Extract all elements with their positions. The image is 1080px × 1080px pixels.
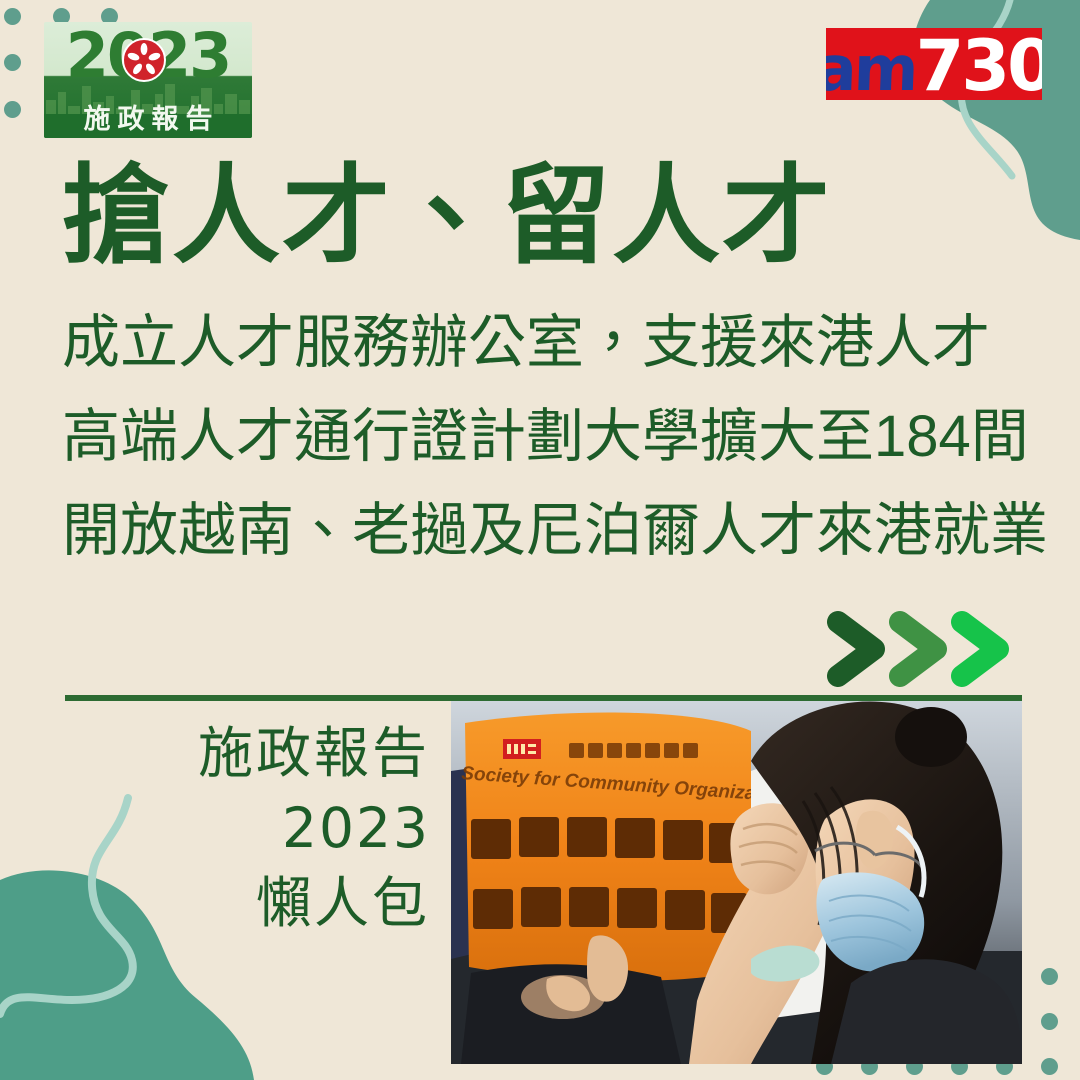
chevron-right-icon: [838, 622, 874, 676]
am730-prefix: am: [826, 40, 917, 98]
caption-line-2: 2023: [100, 791, 430, 866]
bullet-item: 成立人才服務辦公室，支援來港人才: [62, 296, 1047, 390]
decorative-dot: [4, 54, 21, 71]
decorative-dot: [4, 8, 21, 25]
chevron-right-icon: [962, 622, 998, 676]
carer-photo: Society for Community Organization (SoCO…: [451, 701, 1022, 1064]
bullet-item: 高端人才通行證計劃大學擴大至184間: [62, 390, 1047, 484]
banner-org-chinese: [569, 743, 698, 758]
decorative-dot: [1041, 1058, 1058, 1075]
series-caption: 施政報告 2023 懶人包: [100, 716, 430, 941]
decorative-dot: [1041, 1013, 1058, 1030]
caption-line-1: 施政報告: [100, 716, 430, 791]
bullet-item: 開放越南、老撾及尼泊爾人才來港就業: [62, 484, 1047, 578]
bullet-list: 成立人才服務辦公室，支援來港人才 高端人才通行證計劃大學擴大至184間 開放越南…: [62, 296, 1047, 578]
hair-bun: [895, 707, 967, 767]
logo-caption: 施政報告: [44, 104, 252, 134]
caption-line-3: 懶人包: [100, 866, 430, 941]
decorative-dot: [4, 101, 21, 118]
chevron-right-icon: [900, 622, 936, 676]
page-title: 搶人才、留人才: [62, 157, 1022, 275]
decorative-dot: [1041, 968, 1058, 985]
am730-number: 730: [916, 35, 1042, 97]
am730-logo[interactable]: am 730: [826, 28, 1042, 100]
next-chevrons[interactable]: [824, 608, 1028, 690]
hong-kong-bauhinia-emblem: [122, 38, 166, 82]
infographic-card: 2023 施政報告 am 730 搶人才、留人才 成立人才服務辦公室，支援來港人…: [0, 0, 1080, 1080]
policy-address-2023-logo: 2023 施政報告: [44, 22, 252, 138]
